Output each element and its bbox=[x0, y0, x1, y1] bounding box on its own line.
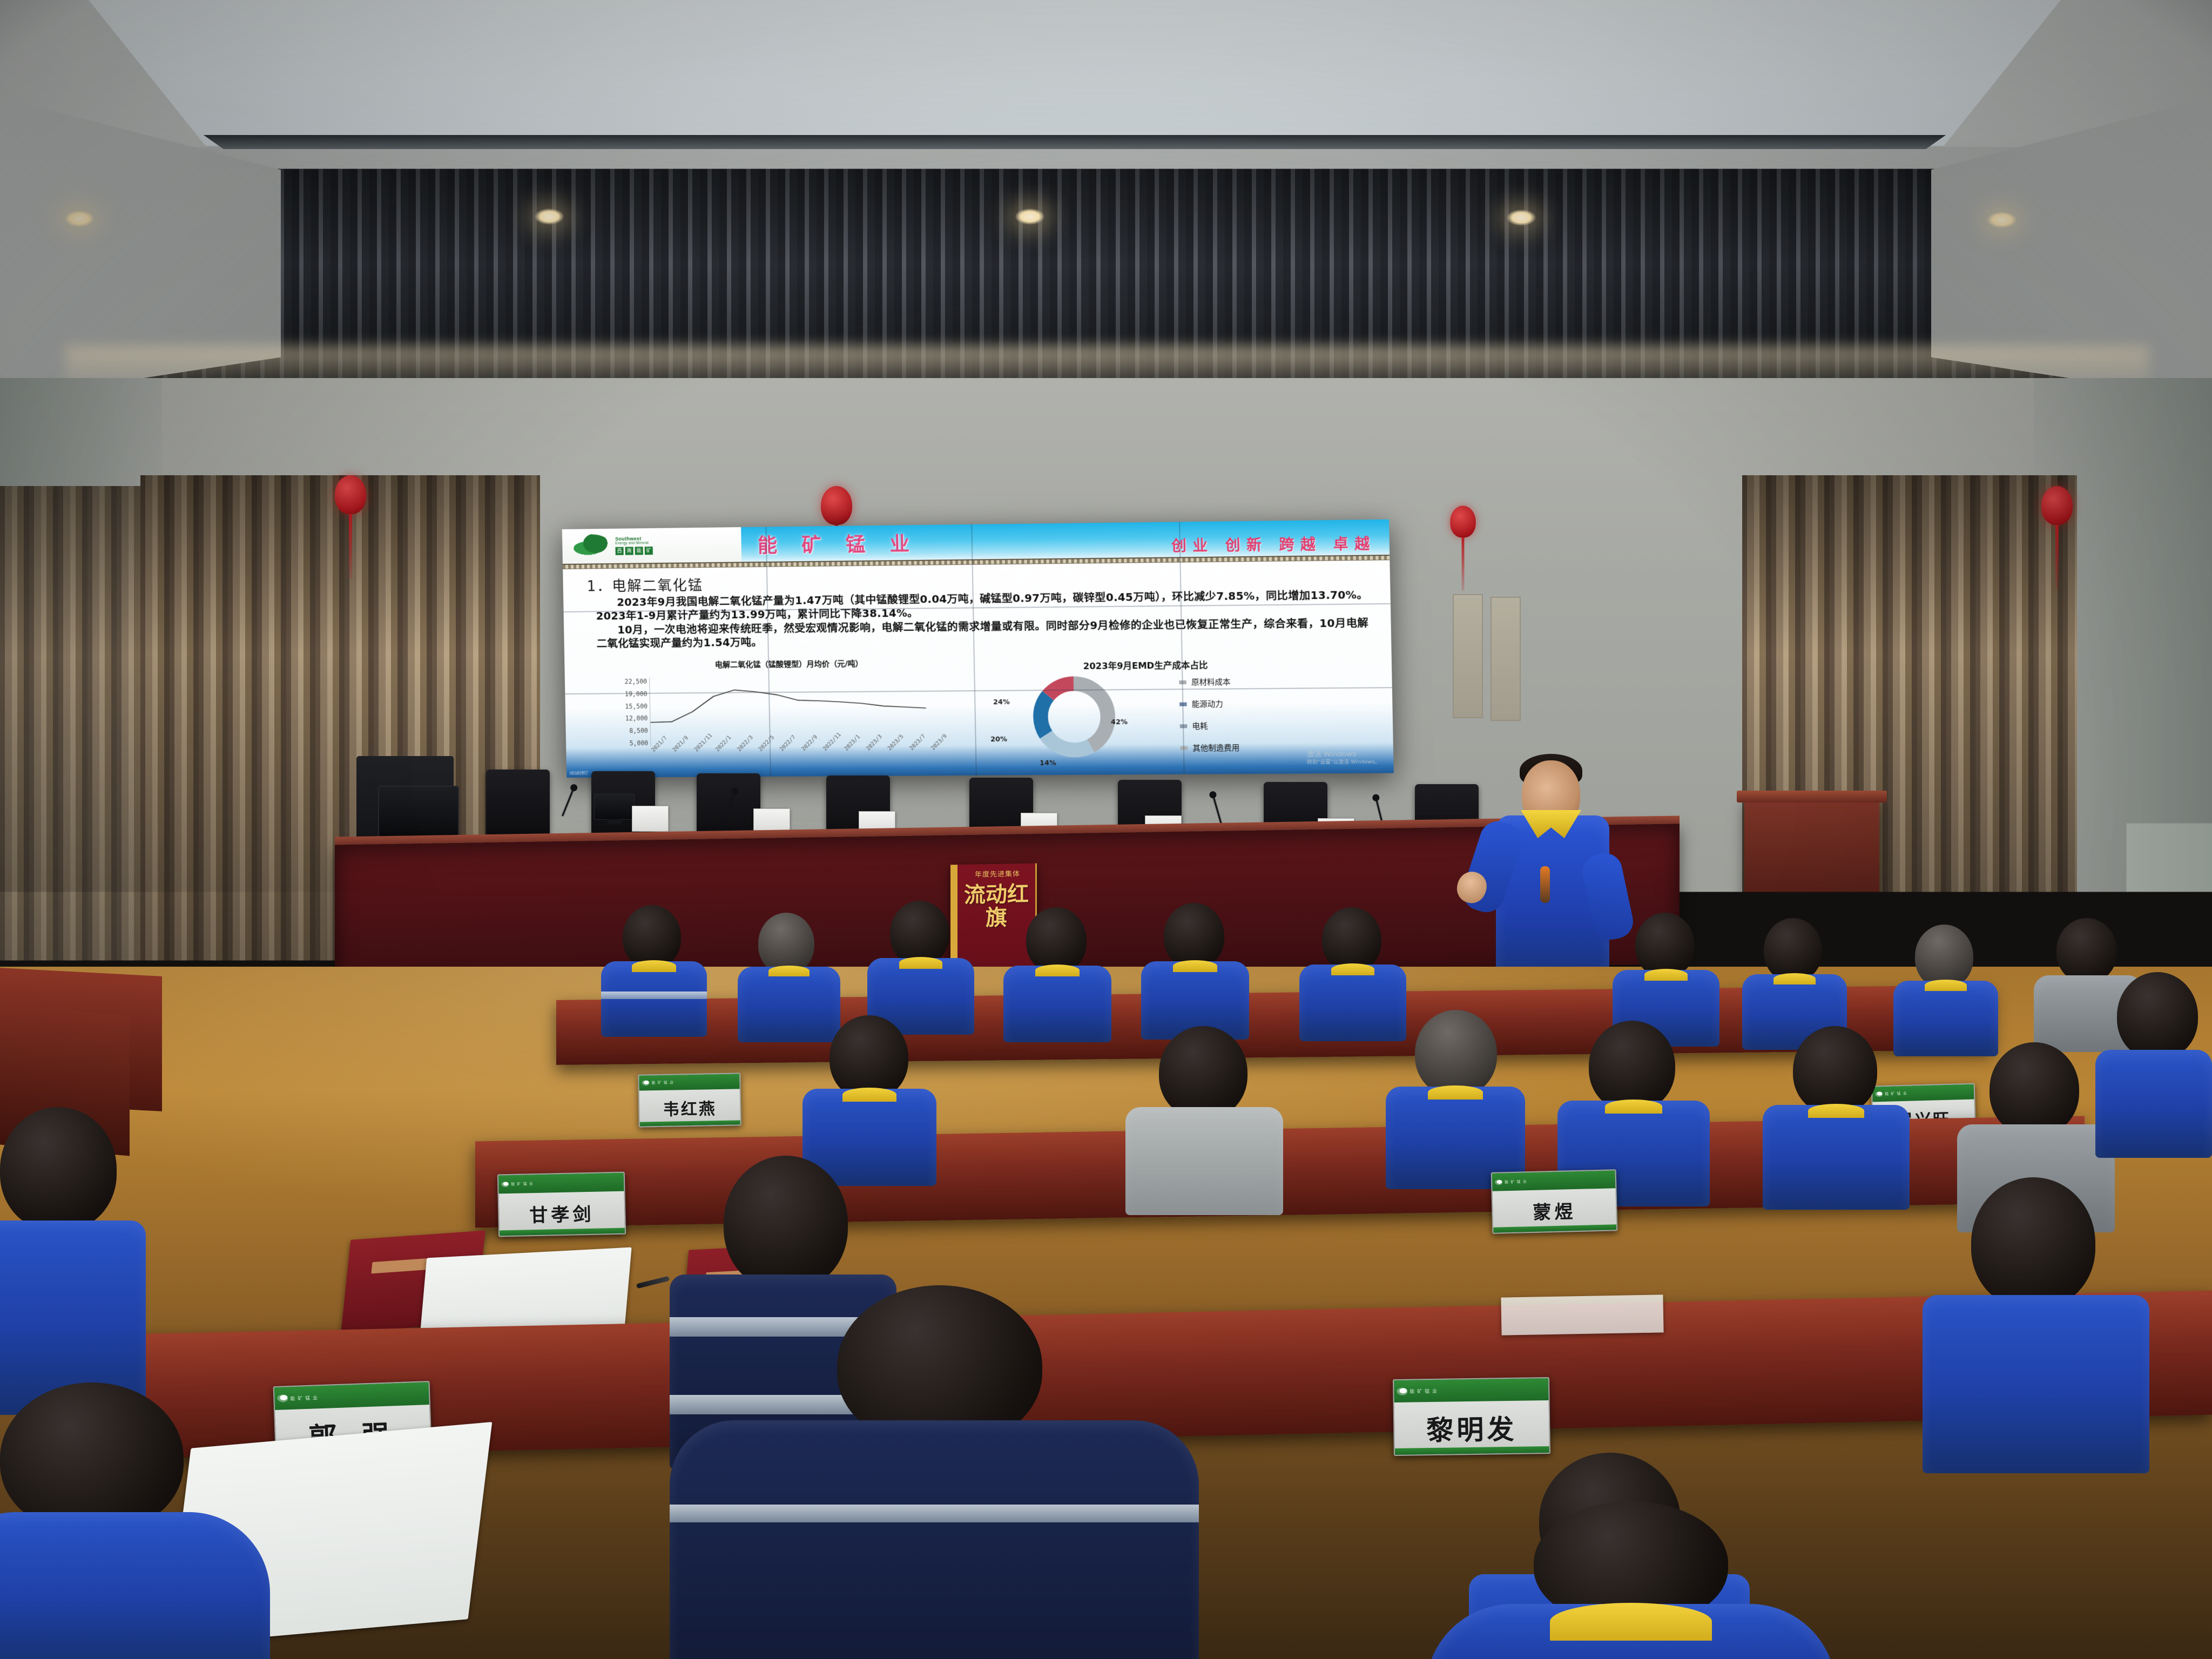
nameplate-foot-band bbox=[1395, 1446, 1549, 1455]
person-head bbox=[1164, 903, 1224, 969]
desk-monitor bbox=[378, 786, 459, 838]
downlight-icon bbox=[1507, 210, 1536, 226]
audience-member bbox=[0, 1107, 146, 1410]
audience-member bbox=[1123, 1026, 1285, 1204]
donut-label-42: 42% bbox=[1111, 718, 1128, 726]
person-torso bbox=[0, 1512, 270, 1659]
person-head bbox=[0, 1107, 117, 1231]
y-tick: 5,000 bbox=[629, 739, 648, 747]
nameplate-org: 能 矿 锰 业 bbox=[1505, 1179, 1527, 1185]
paper-sheet bbox=[1501, 1294, 1663, 1335]
handheld-microphone-icon bbox=[1540, 866, 1550, 903]
person-head bbox=[1764, 918, 1822, 982]
podium-top bbox=[1737, 791, 1887, 802]
nameplate-org: 能 矿 锰 业 bbox=[290, 1394, 318, 1402]
audience-member bbox=[1382, 1010, 1528, 1183]
logo-cn-squares: 西 南 能 矿 bbox=[615, 547, 652, 555]
audience-member bbox=[999, 907, 1115, 1034]
nameplate-org: 能 矿 锰 业 bbox=[511, 1181, 534, 1187]
person-collar bbox=[632, 960, 676, 972]
leaf-logo-icon bbox=[1856, 1385, 1866, 1393]
person-head bbox=[2117, 972, 2198, 1060]
nameplate-org-band: 能 矿 锰 业 bbox=[498, 1173, 624, 1193]
nameplate-org-band: 能 矿 锰 业 bbox=[1853, 1377, 2002, 1400]
watermark-line1: 激活 Windows bbox=[1307, 750, 1357, 759]
y-tick: 8,500 bbox=[629, 727, 648, 734]
led-video-wall[interactable]: Southwest Energy and Mineral 西 南 能 矿 能 矿… bbox=[562, 520, 1394, 778]
person-head bbox=[1793, 1026, 1877, 1115]
leaf-logo-icon bbox=[570, 534, 611, 558]
person-head bbox=[890, 901, 949, 966]
person-head bbox=[724, 1156, 848, 1291]
person-collar bbox=[1035, 965, 1080, 976]
person-collar bbox=[768, 966, 810, 976]
person-head bbox=[1990, 1042, 2079, 1136]
donut-ring bbox=[1029, 673, 1120, 761]
person-collar bbox=[1331, 963, 1374, 975]
y-tick: 19,000 bbox=[625, 690, 648, 698]
downlight-icon bbox=[535, 208, 564, 225]
downlight-icon bbox=[1987, 212, 2017, 228]
company-slogan: 创业 创新 跨越 卓越 bbox=[1171, 531, 1376, 555]
legend-swatch-icon bbox=[1180, 724, 1188, 728]
presentation-slide: Southwest Energy and Mineral 西 南 能 矿 能 矿… bbox=[562, 520, 1394, 778]
person-head bbox=[1589, 1021, 1675, 1111]
person-head bbox=[0, 1382, 184, 1534]
downlight-icon bbox=[65, 211, 94, 227]
legend-label: 能源动力 bbox=[1192, 698, 1223, 710]
hi-vis-stripe bbox=[670, 1505, 1199, 1522]
line-chart-plot-area bbox=[649, 676, 927, 747]
nameplate-org-band: 能 矿 锰 业 bbox=[1492, 1170, 1616, 1191]
foreground-audience-member bbox=[670, 1285, 1199, 1659]
audience-member bbox=[1739, 918, 1850, 1042]
person-collar bbox=[842, 1088, 896, 1102]
y-tick: 12,000 bbox=[625, 714, 648, 722]
person-head bbox=[1159, 1026, 1247, 1119]
podium bbox=[1744, 799, 1879, 907]
foreground-audience-member bbox=[0, 1382, 270, 1659]
head-table-chair bbox=[486, 770, 550, 834]
foreground-audience-member bbox=[1426, 1501, 1836, 1659]
person-collar bbox=[899, 957, 942, 969]
legend-item: 其他制造费用 bbox=[1180, 737, 1239, 759]
x-tick: 2023/9 bbox=[930, 733, 948, 752]
ceiling-skylight-panel bbox=[76, 0, 2074, 146]
person-head bbox=[1915, 925, 1973, 988]
person-collar bbox=[1808, 1104, 1864, 1118]
donut-chart: 2023年9月EMD生产成本占比 42% 24% 20% 14% 原材料成本 bbox=[946, 657, 1348, 766]
legend-label: 其他制造费用 bbox=[1192, 742, 1239, 753]
legend-item: 原材料成本 bbox=[1179, 671, 1238, 693]
person-head bbox=[1415, 1010, 1497, 1096]
line-chart-svg bbox=[650, 676, 927, 747]
slide-heading: 1．电解二氧化锰 bbox=[586, 574, 703, 595]
red-lantern-decoration bbox=[1450, 505, 1476, 537]
audience-member bbox=[1761, 1026, 1912, 1204]
nameplate-foot-band bbox=[640, 1120, 740, 1127]
red-lantern-decoration bbox=[335, 475, 366, 514]
person-collar bbox=[1550, 1603, 1712, 1641]
donut-label-20: 20% bbox=[990, 735, 1007, 743]
line-chart-y-axis: 22,500 19,000 15,500 12,000 8,500 5,000 bbox=[602, 678, 649, 747]
leaf-logo-icon bbox=[501, 1182, 509, 1187]
nameplate-org: 能 矿 锰 业 bbox=[1869, 1385, 1897, 1392]
nameplate-org: 能 矿 锰 业 bbox=[651, 1080, 674, 1086]
person-torso bbox=[601, 961, 707, 1037]
donut-label-14: 14% bbox=[1040, 759, 1056, 767]
leaf-logo-icon bbox=[1495, 1179, 1502, 1185]
nameplate-foot-band bbox=[1854, 1443, 2003, 1451]
audience-member bbox=[597, 905, 710, 1029]
line-chart-x-axis: 2021/72021/92021/112022/12022/32022/5202… bbox=[651, 747, 931, 774]
legend-item: 电耗 bbox=[1180, 714, 1239, 737]
wall-plaque bbox=[1491, 597, 1521, 721]
audience-member bbox=[799, 1015, 940, 1177]
person-collar bbox=[1925, 980, 1967, 991]
donut-chart-title: 2023年9月EMD生产成本占比 bbox=[946, 657, 1347, 673]
slide-body-text: 2023年9月我国电解二氧化锰产量为1.47万吨（其中锰酸锂型0.04万吨，碱锰… bbox=[596, 588, 1369, 651]
legend-swatch-icon bbox=[1181, 746, 1188, 750]
nameplate-org: 能 矿 锰 业 bbox=[1410, 1387, 1438, 1395]
person-head bbox=[758, 913, 814, 974]
person-torso bbox=[1763, 1105, 1910, 1210]
logo-sq-2: 能 bbox=[635, 547, 643, 555]
audience-member bbox=[2095, 972, 2212, 1150]
conference-hall-photo: Southwest Energy and Mineral 西 南 能 矿 能 矿… bbox=[0, 0, 2212, 1659]
logo-sq-1: 南 bbox=[625, 547, 633, 555]
desk-monitor bbox=[594, 794, 635, 820]
nameplate-chang-sheng: 能 矿 锰 业 长胜 bbox=[1852, 1375, 2004, 1453]
leaf-logo-icon bbox=[277, 1394, 288, 1402]
person-head bbox=[1971, 1177, 2095, 1309]
company-logo: Southwest Energy and Mineral 西 南 能 矿 bbox=[562, 527, 741, 564]
person-torso bbox=[670, 1420, 1199, 1659]
logo-sq-0: 西 bbox=[615, 547, 623, 555]
ceiling-skylight-edge bbox=[76, 135, 2074, 149]
nameplate-org-band: 能 矿 锰 业 bbox=[639, 1074, 739, 1090]
donut-legend: 原材料成本 能源动力 电耗 其他制造费用 bbox=[1179, 671, 1240, 759]
line-chart-title: 电解二氧化锰（锰酸锂型）月均价（元/吨） bbox=[650, 659, 929, 670]
nameplate-li-mingfa: 能 矿 锰 业 黎明发 bbox=[1393, 1377, 1550, 1456]
person-head bbox=[829, 1015, 908, 1100]
person-torso bbox=[2095, 1050, 2212, 1158]
red-lantern-decoration bbox=[821, 486, 852, 525]
wall-plaque bbox=[1453, 594, 1483, 718]
curtain-far-left bbox=[0, 486, 146, 972]
donut-svg bbox=[1029, 673, 1120, 761]
downlight-icon bbox=[1015, 208, 1044, 225]
y-tick: 22,500 bbox=[624, 678, 647, 685]
person-head bbox=[1635, 913, 1695, 977]
hi-vis-stripe bbox=[601, 992, 707, 999]
red-lantern-decoration bbox=[2041, 486, 2073, 525]
leaf-logo-icon bbox=[642, 1080, 649, 1085]
person-collar bbox=[1605, 1100, 1662, 1114]
screen-serial-code: HKWKMM7 bbox=[570, 771, 588, 776]
nameplate-meng-yu: 能 矿 锰 业 蒙煜 bbox=[1491, 1169, 1618, 1234]
leaf-logo-icon bbox=[1397, 1387, 1407, 1395]
y-tick: 15,500 bbox=[625, 702, 648, 710]
legend-label: 电耗 bbox=[1192, 720, 1208, 732]
person-collar bbox=[1173, 960, 1217, 972]
audience-member bbox=[1137, 903, 1253, 1031]
logo-sq-3: 矿 bbox=[645, 547, 653, 555]
person-collar bbox=[1773, 973, 1816, 984]
legend-swatch-icon bbox=[1179, 702, 1187, 706]
person-torso bbox=[1125, 1107, 1283, 1215]
watermark-line2: 转到"设置"以激活 Windows。 bbox=[1307, 759, 1380, 766]
donut-label-24: 24% bbox=[993, 698, 1010, 706]
nameplate-gan-xiaojian: 能 矿 锰 业 甘孝剑 bbox=[497, 1172, 626, 1237]
nameplate-wei-hongyan: 能 矿 锰 业 韦红燕 bbox=[638, 1073, 741, 1127]
audience-member bbox=[864, 901, 977, 1028]
person-head bbox=[1322, 907, 1381, 972]
person-head bbox=[623, 905, 681, 969]
legend-item: 能源动力 bbox=[1179, 693, 1239, 715]
nameplate-org-band: 能 矿 锰 业 bbox=[1394, 1378, 1549, 1402]
award-banner-subtitle: 年度先进集体 bbox=[963, 868, 1032, 879]
brand-name-cn: 能 矿 锰 业 bbox=[757, 528, 919, 558]
windows-activation-watermark: 激活 Windows 转到"设置"以激活 Windows。 bbox=[1307, 750, 1380, 766]
head-table-name-card bbox=[632, 806, 669, 832]
person-torso bbox=[1426, 1604, 1836, 1659]
legend-swatch-icon bbox=[1179, 680, 1186, 684]
person-collar bbox=[1428, 1085, 1483, 1100]
person-head bbox=[1026, 907, 1087, 973]
person-torso bbox=[1003, 966, 1111, 1042]
person-collar bbox=[1644, 969, 1688, 981]
line-chart: 电解二氧化锰（锰酸锂型）月均价（元/吨） 22,500 19,000 15,50… bbox=[601, 661, 930, 764]
logo-english-line2: Energy and Mineral bbox=[615, 542, 652, 546]
legend-label: 原材料成本 bbox=[1191, 676, 1231, 687]
